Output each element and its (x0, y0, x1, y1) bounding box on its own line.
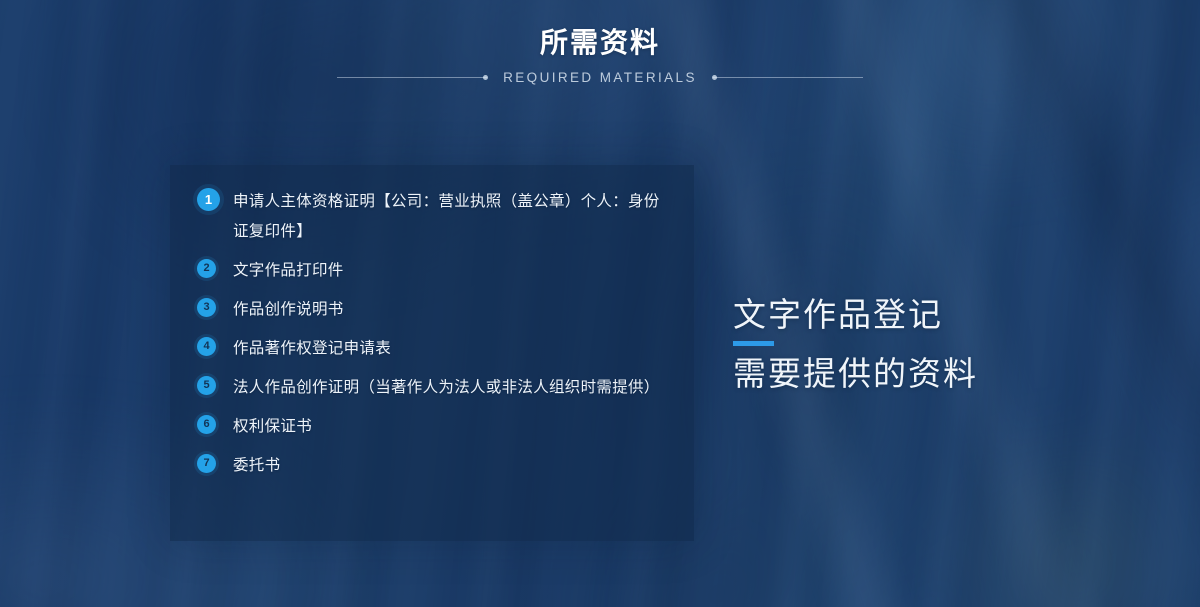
promo-banner: 所需资料 REQUIRED MATERIALS 1 申请人主体资格证明【公司：营… (0, 0, 1200, 607)
list-item-text: 权利保证书 (233, 412, 312, 442)
list-item-text: 申请人主体资格证明【公司：营业执照（盖公章）个人：身份证复印件】 (233, 187, 667, 247)
page-subtitle: REQUIRED MATERIALS (487, 70, 713, 85)
subtitle-row: REQUIRED MATERIALS (0, 67, 1200, 87)
list-number-badge: 1 (197, 188, 220, 211)
materials-list: 1 申请人主体资格证明【公司：营业执照（盖公章）个人：身份证复印件】 2 文字作… (197, 187, 667, 490)
list-number-badge: 5 (197, 376, 216, 395)
list-item: 4 作品著作权登记申请表 (197, 334, 667, 364)
divider-line-right (713, 77, 863, 78)
list-number-badge: 4 (197, 337, 216, 356)
list-item-text: 作品创作说明书 (233, 295, 344, 325)
page-header: 所需资料 REQUIRED MATERIALS (0, 26, 1200, 87)
divider-dot-right (712, 75, 717, 80)
list-number-badge: 6 (197, 415, 216, 434)
list-item: 3 作品创作说明书 (197, 295, 667, 325)
list-item-text: 委托书 (233, 451, 280, 481)
list-item-text: 文字作品打印件 (233, 256, 344, 286)
list-item: 7 委托书 (197, 451, 667, 481)
headline-block: 文字作品登记 需要提供的资料 (733, 291, 1153, 397)
headline-line-1: 文字作品登记 (733, 291, 1153, 338)
list-item: 1 申请人主体资格证明【公司：营业执照（盖公章）个人：身份证复印件】 (197, 187, 667, 247)
list-item-text: 法人作品创作证明（当著作人为法人或非法人组织时需提供） (233, 373, 660, 403)
page-title: 所需资料 (0, 26, 1200, 60)
headline-accent-bar (733, 341, 774, 346)
divider-dot-left (483, 75, 488, 80)
materials-panel: 1 申请人主体资格证明【公司：营业执照（盖公章）个人：身份证复印件】 2 文字作… (170, 165, 694, 541)
list-number-badge: 2 (197, 259, 216, 278)
list-item: 5 法人作品创作证明（当著作人为法人或非法人组织时需提供） (197, 373, 667, 403)
headline-line-2: 需要提供的资料 (733, 350, 1153, 397)
list-item: 2 文字作品打印件 (197, 256, 667, 286)
list-number-badge: 3 (197, 298, 216, 317)
divider-line-left (337, 77, 487, 78)
list-number-badge: 7 (197, 454, 216, 473)
list-item: 6 权利保证书 (197, 412, 667, 442)
list-item-text: 作品著作权登记申请表 (233, 334, 391, 364)
